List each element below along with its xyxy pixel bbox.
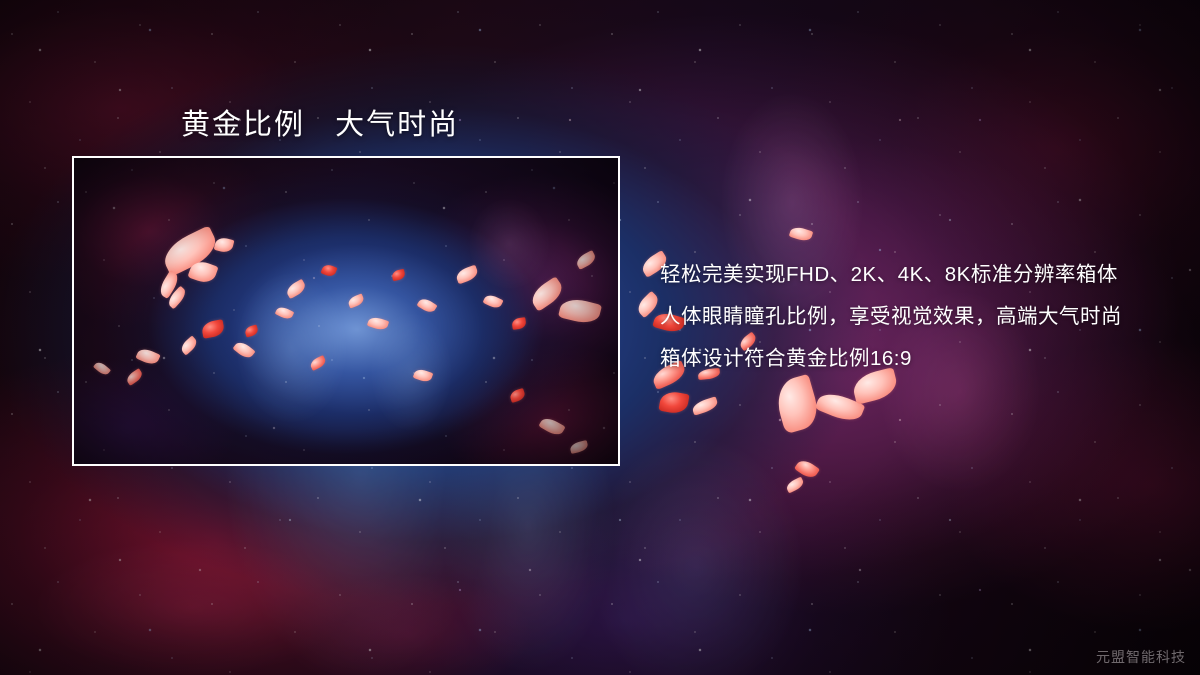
- presentation-slide: 黄金比例 大气时尚 轻松完美实现FHD、2K、4K、8K标准分辨率箱体 人体眼睛…: [0, 0, 1200, 675]
- body-line-1: 轻松完美实现FHD、2K、4K、8K标准分辨率箱体: [660, 254, 1160, 296]
- body-text-block: 轻松完美实现FHD、2K、4K、8K标准分辨率箱体 人体眼睛瞳孔比例，享受视觉效…: [660, 254, 1160, 380]
- petal: [772, 374, 823, 434]
- body-line-2: 人体眼睛瞳孔比例，享受视觉效果，高端大气时尚: [660, 296, 1160, 338]
- body-line-3: 箱体设计符合黄金比例16:9: [660, 338, 1160, 380]
- framed-image-content: [74, 158, 618, 464]
- framed-image-vignette: [74, 158, 618, 464]
- petal: [658, 390, 689, 416]
- petal: [789, 225, 814, 243]
- watermark: 元盟智能科技: [1096, 647, 1186, 667]
- petal: [691, 396, 719, 415]
- framed-product-image[interactable]: [72, 156, 620, 466]
- page-title: 黄金比例 大气时尚: [181, 101, 459, 143]
- petal: [785, 477, 806, 494]
